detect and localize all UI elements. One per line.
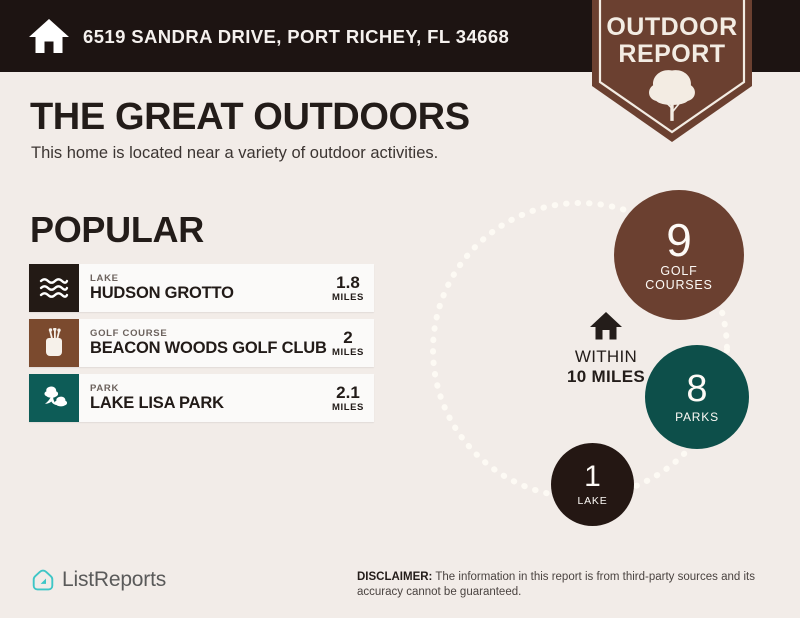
home-icon	[589, 310, 623, 342]
golf-bag-icon	[41, 328, 67, 358]
page-title: THE GREAT OUTDOORS	[30, 96, 470, 139]
outdoor-report-badge: OUTDOOR REPORT	[588, 0, 756, 146]
list-item-category: LAKE	[90, 273, 328, 284]
list-item[interactable]: GOLF COURSE BEACON WOODS GOLF CLUB 2 MIL…	[29, 319, 374, 367]
listreports-logo[interactable]: ListReports	[31, 568, 166, 592]
list-item-icon-tile	[29, 264, 79, 312]
list-item-name: BEACON WOODS GOLF CLUB	[90, 339, 328, 358]
disclaimer: DISCLAIMER: The information in this repo…	[357, 570, 797, 600]
list-item-distance-unit: MILES	[332, 347, 364, 358]
list-item-distance-value: 2	[343, 329, 352, 347]
list-item-distance-value: 2.1	[336, 384, 360, 402]
page-subtitle: This home is located near a variety of o…	[31, 144, 438, 163]
list-item-distance-unit: MILES	[332, 292, 364, 303]
list-item-icon-tile	[29, 374, 79, 422]
disclaimer-label: DISCLAIMER:	[357, 571, 432, 583]
stat-label-line2: COURSES	[645, 278, 712, 292]
list-item-category: GOLF COURSE	[90, 328, 328, 339]
popular-heading: POPULAR	[30, 209, 204, 251]
list-item-category: PARK	[90, 383, 328, 394]
listreports-logo-text: ListReports	[62, 568, 166, 592]
list-item[interactable]: PARK LAKE LISA PARK 2.1 MILES	[29, 374, 374, 422]
stat-circle-golf-courses[interactable]: 9 GOLF COURSES	[614, 190, 744, 320]
outdoor-report-page: 6519 SANDRA DRIVE, PORT RICHEY, FL 34668…	[0, 0, 800, 618]
list-item-text: LAKE HUDSON GROTTO	[79, 264, 328, 312]
stat-count: 8	[686, 371, 707, 408]
park-trees-icon	[39, 385, 69, 411]
waves-icon	[39, 276, 69, 300]
within-10-miles-diagram: 9 GOLF COURSES 8 PARKS 1 LAKE WITHIN 10 …	[430, 170, 800, 540]
list-item-distance: 2.1 MILES	[328, 374, 374, 422]
stat-label: PARKS	[675, 410, 719, 424]
stat-count: 1	[584, 462, 601, 492]
popular-list: LAKE HUDSON GROTTO 1.8 MILES	[29, 264, 374, 429]
list-item-text: GOLF COURSE BEACON WOODS GOLF CLUB	[79, 319, 328, 367]
header-address: 6519 SANDRA DRIVE, PORT RICHEY, FL 34668	[83, 26, 509, 48]
stat-circle-lake[interactable]: 1 LAKE	[551, 443, 634, 526]
home-icon	[28, 16, 70, 56]
list-item-distance: 2 MILES	[328, 319, 374, 367]
list-item-icon-tile	[29, 319, 79, 367]
diagram-center-block: WITHIN 10 MILES	[526, 310, 686, 387]
list-item-distance-value: 1.8	[336, 274, 360, 292]
stat-label-line1: GOLF	[660, 264, 697, 278]
listreports-house-icon	[31, 568, 55, 592]
stat-count: 9	[666, 218, 692, 262]
list-item-distance: 1.8 MILES	[328, 264, 374, 312]
stat-label: GOLF COURSES	[645, 264, 712, 292]
list-item-name: HUDSON GROTTO	[90, 284, 328, 303]
list-item[interactable]: LAKE HUDSON GROTTO 1.8 MILES	[29, 264, 374, 312]
badge-shield-shape	[588, 0, 756, 146]
diagram-center-line2: 10 MILES	[526, 367, 686, 387]
diagram-center-line1: WITHIN	[526, 347, 686, 367]
list-item-distance-unit: MILES	[332, 402, 364, 413]
stat-label: LAKE	[577, 494, 607, 508]
list-item-name: LAKE LISA PARK	[90, 394, 328, 413]
list-item-text: PARK LAKE LISA PARK	[79, 374, 328, 422]
